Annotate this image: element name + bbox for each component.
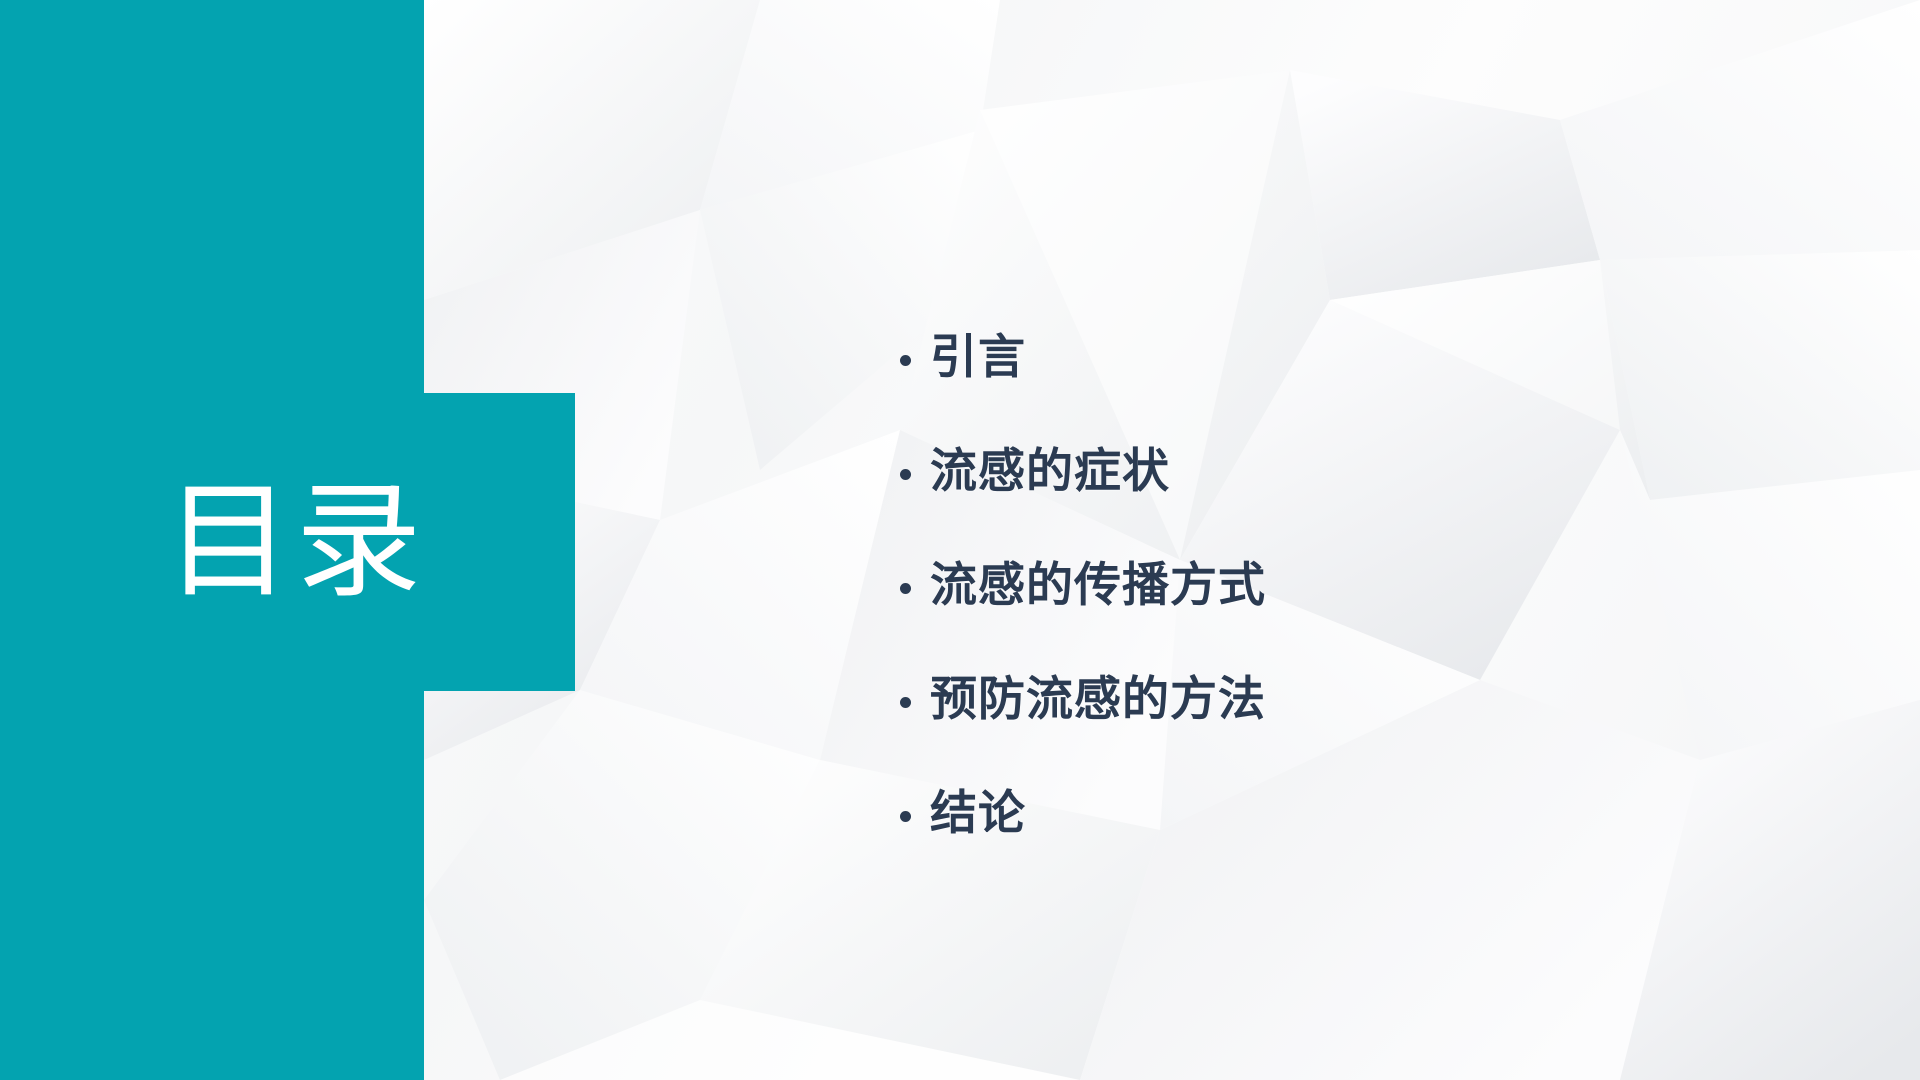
agenda-item-5[interactable]: 结论 [900,768,1760,860]
page-title-text: 目录 [166,479,426,605]
slide-canvas: 目录 引言 流感的症状 流感的传播方式 预防流感的方法 结论 [0,0,1920,1080]
agenda-item-4[interactable]: 预防流感的方法 [900,654,1760,746]
bullet-dot-icon [900,697,911,708]
bullet-dot-icon [900,469,911,480]
agenda-item-label: 结论 [930,787,1026,841]
agenda-item-1[interactable]: 引言 [900,312,1760,404]
agenda-item-3[interactable]: 流感的传播方式 [900,540,1760,632]
agenda-item-label: 引言 [930,331,1026,385]
page-title: 目录 [0,393,575,691]
agenda-item-2[interactable]: 流感的症状 [900,426,1760,518]
bullet-dot-icon [900,583,911,594]
agenda-item-label: 流感的症状 [930,445,1170,499]
agenda-list: 引言 流感的症状 流感的传播方式 预防流感的方法 结论 [900,312,1760,860]
bullet-dot-icon [900,811,911,822]
agenda-item-label: 流感的传播方式 [930,559,1266,613]
agenda-item-label: 预防流感的方法 [930,673,1266,727]
bullet-dot-icon [900,355,911,366]
